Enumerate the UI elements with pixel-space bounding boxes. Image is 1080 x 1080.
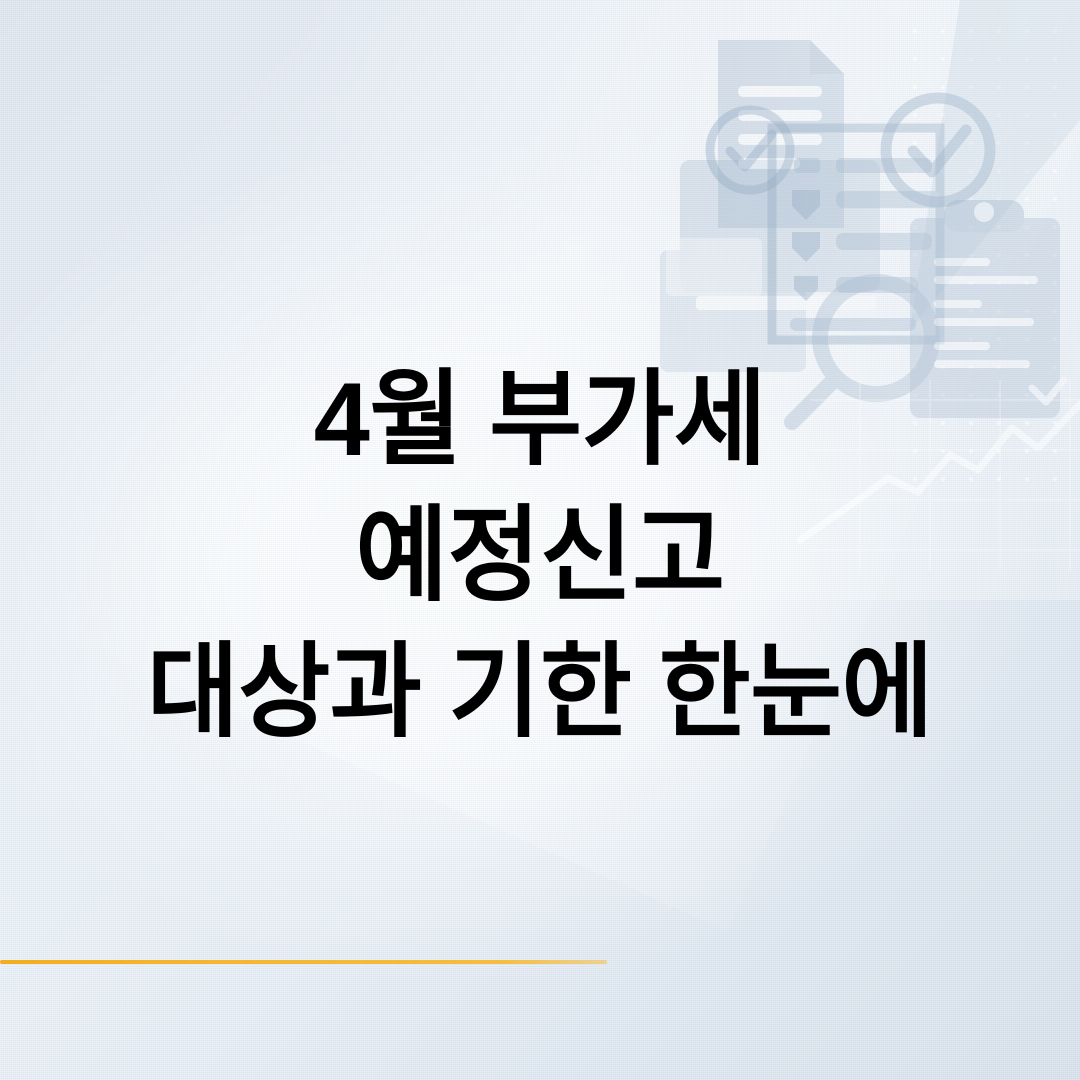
title-line-2: 예정신고 [16,488,1064,624]
title-line-3: 대상과 기한 한눈에 [16,624,1064,760]
poster-canvas: 4월 부가세 예정신고 대상과 기한 한눈에 [0,0,1080,1080]
check-circle-icon [886,98,990,202]
printer-icon [660,160,880,372]
orange-rule [0,960,607,964]
checklist-board-icon [772,128,940,340]
page-title: 4월 부가세 예정신고 대상과 기한 한눈에 [0,352,1080,760]
document-icon [718,40,844,228]
checkbox-icon [794,276,918,301]
title-line-1: 4월 부가세 [16,352,1064,488]
checkbox-icon [792,232,932,262]
checkbox-icon [792,190,940,220]
check-circle-icon [710,110,790,190]
